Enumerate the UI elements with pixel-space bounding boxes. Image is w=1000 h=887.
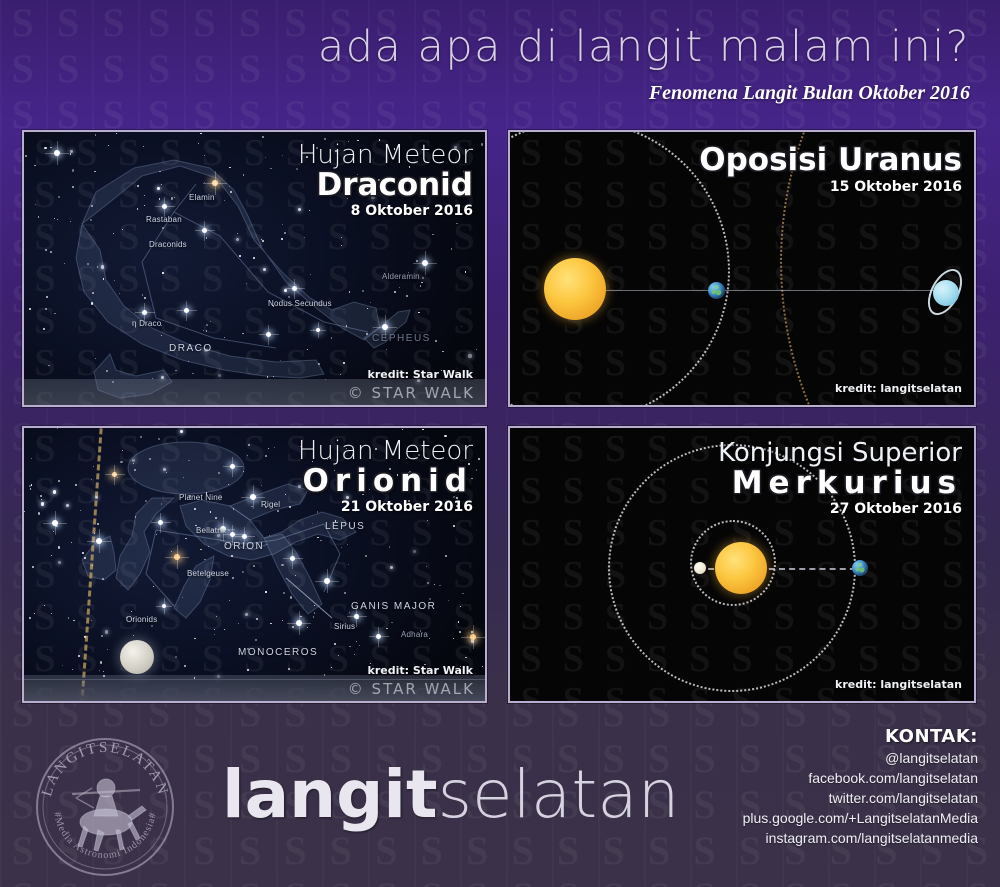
credit-merkurius: kredit: langitselatan [835, 678, 962, 691]
star [72, 669, 73, 670]
star [70, 153, 71, 154]
star [41, 502, 44, 505]
star [422, 277, 424, 279]
star [70, 150, 73, 153]
star [103, 278, 104, 279]
star [140, 436, 142, 438]
star [106, 370, 108, 372]
star [245, 613, 248, 616]
moon-icon [120, 640, 154, 674]
star [253, 257, 254, 258]
star [200, 549, 201, 550]
star [91, 302, 93, 304]
star [341, 547, 342, 548]
star [100, 661, 102, 663]
panel-title-uranus: Oposisi Uranus 15 Oktober 2016 [699, 144, 962, 195]
header: ada apa di langit malam ini? Fenomena La… [0, 0, 1000, 120]
orionid-name: Orionid [298, 465, 473, 498]
star-label: LEPUS [325, 521, 365, 532]
star [481, 143, 483, 145]
star [312, 523, 313, 524]
star [122, 450, 123, 451]
star [242, 571, 244, 573]
earth-body-merkurius-panel [852, 560, 868, 576]
star [359, 645, 360, 646]
star-label: CEPHEUS [372, 333, 431, 344]
star [341, 245, 342, 246]
star [406, 295, 408, 297]
star [229, 186, 230, 187]
star [134, 469, 136, 471]
star [239, 255, 240, 256]
panel-orionid[interactable]: SSSSSSSSSSSSSSSSSSSSSSSSSSSSSSSSSSSSSSSS… [22, 426, 487, 703]
uranus-kicker: Oposisi Uranus [699, 144, 962, 177]
star [237, 233, 238, 234]
star [105, 630, 108, 633]
star [135, 516, 136, 517]
earth-body-uranus-panel [708, 282, 725, 299]
star [91, 479, 92, 480]
brand-bold: langit [222, 756, 438, 833]
star-spike [164, 598, 165, 614]
star [390, 566, 393, 569]
star [247, 455, 248, 456]
star-spike [99, 529, 100, 553]
panel-draconid[interactable]: SSSSSSSSSSSSSSSSSSSSSSSSSSSSSSSSSSSSSSSS… [22, 130, 487, 407]
star-spike [378, 627, 379, 647]
star [175, 656, 177, 658]
star [38, 512, 40, 514]
star [465, 657, 466, 658]
star [422, 429, 423, 430]
star [184, 665, 186, 667]
starwalk-watermark-draconid: © STAR WALK [348, 384, 475, 402]
star-spike [327, 569, 328, 593]
star [149, 458, 151, 460]
star-spike [232, 457, 233, 477]
star [206, 330, 207, 331]
star [461, 326, 462, 327]
starwalk-watermark-orionid: © STAR WALK [348, 680, 475, 698]
panel-uranus[interactable]: SSSSSSSSSSSSSSSSSSSSSSSSSSSSSSSSSSSSSSSS… [508, 130, 976, 407]
orionid-date: 21 Oktober 2016 [298, 499, 473, 515]
star [25, 155, 26, 156]
star [29, 485, 31, 487]
star [228, 530, 229, 531]
star-spike [164, 197, 165, 217]
star [445, 555, 447, 557]
star [90, 219, 92, 221]
star-label: Alderamin [382, 272, 420, 281]
star [432, 234, 433, 235]
star [310, 274, 311, 275]
star [62, 665, 63, 666]
star-spike [204, 221, 205, 241]
star [289, 506, 291, 508]
star [229, 167, 230, 168]
uranus-date: 15 Oktober 2016 [699, 179, 962, 195]
star [270, 168, 271, 169]
credit-uranus: kredit: langitselatan [835, 382, 962, 395]
star-spike [57, 141, 58, 165]
star [307, 349, 308, 350]
star [162, 227, 164, 229]
star-spike [253, 485, 254, 509]
panel-title-orionid: Hujan Meteor Orionid 21 Oktober 2016 [298, 438, 473, 515]
star [465, 271, 466, 272]
star [161, 503, 162, 504]
opposition-sight-line [572, 290, 944, 291]
credit-draconid: kredit: Star Walk [368, 368, 473, 381]
star [292, 626, 294, 628]
star [120, 461, 122, 463]
star-label: Adhara [401, 630, 428, 639]
panel-merkurius[interactable]: SSSSSSSSSSSSSSSSSSSSSSSSSSSSSSSSSSSSSSSS… [508, 426, 976, 703]
star-label: Planet Nine [179, 493, 223, 502]
star [468, 354, 471, 357]
star [192, 373, 193, 374]
star [268, 448, 269, 449]
star-spike [425, 251, 426, 275]
star [70, 221, 71, 222]
uranus-body [933, 280, 959, 306]
star [40, 495, 41, 496]
star [331, 337, 332, 338]
star [58, 546, 60, 548]
star [133, 463, 134, 464]
contact-line[interactable]: twitter.com/langitselatan [743, 789, 978, 809]
star [30, 488, 31, 489]
star [206, 324, 208, 326]
star [462, 593, 463, 594]
star [267, 376, 268, 377]
star [145, 500, 147, 502]
star [133, 635, 134, 636]
star [144, 297, 145, 298]
star [97, 523, 99, 525]
star-spike [318, 322, 319, 338]
star-spike [215, 171, 216, 195]
star-label: Rigel [261, 500, 280, 509]
star-label: Orionids [126, 615, 157, 624]
star-label: Bellatrix [196, 526, 226, 535]
star-spike [299, 611, 300, 635]
star-spike [473, 625, 474, 649]
star [389, 546, 390, 547]
star-spike [268, 325, 269, 345]
star [137, 185, 139, 187]
star [34, 613, 35, 614]
star-spike [114, 465, 115, 485]
star [451, 248, 452, 249]
contact-line[interactable]: @langitselatan [743, 749, 978, 769]
star-spike [292, 549, 293, 569]
contact-line[interactable]: facebook.com/langitselatan [743, 769, 978, 789]
star [313, 616, 314, 617]
star [210, 511, 211, 512]
brand-wordmark: langitselatan [222, 762, 680, 828]
star [72, 169, 74, 171]
star [75, 484, 77, 486]
credit-orionid: kredit: Star Walk [368, 664, 473, 677]
star [365, 555, 367, 557]
star [439, 585, 440, 586]
star [476, 469, 477, 470]
star [206, 237, 207, 238]
star [281, 238, 283, 240]
sun-body-merkurius-panel [715, 542, 767, 594]
contact-block: KONTAK: @langitselatanfacebook.com/langi… [743, 726, 978, 848]
star [290, 596, 292, 598]
star [300, 616, 301, 617]
star-label: η Draco [132, 319, 161, 328]
star-spike [160, 513, 161, 533]
star [73, 620, 74, 621]
star-spike [55, 511, 56, 535]
star [263, 268, 266, 271]
star-label: ORION [224, 541, 264, 552]
star [97, 266, 98, 267]
draconid-date: 8 Oktober 2016 [298, 203, 473, 219]
star [317, 537, 318, 538]
star [84, 636, 86, 638]
star [32, 566, 33, 567]
star-label: Draconids [149, 240, 187, 249]
page-subtitle: Fenomena Langit Bulan Oktober 2016 [649, 82, 970, 105]
star-spike [186, 301, 187, 321]
brand-light: selatan [438, 756, 680, 833]
star [426, 566, 427, 567]
star [194, 638, 195, 639]
panel-title-merkurius: Konjungsi Superior Merkurius 27 Oktober … [718, 440, 962, 517]
star [101, 265, 104, 268]
star [142, 294, 143, 295]
star [386, 628, 387, 629]
contact-line[interactable]: plus.google.com/+LangitselatanMedia [743, 809, 978, 829]
star [35, 204, 36, 205]
star [218, 472, 220, 474]
star [314, 612, 315, 613]
star [314, 605, 315, 606]
star-spike [294, 279, 295, 299]
star [418, 312, 419, 313]
star-label: Betelgeuse [187, 569, 229, 578]
merkurius-name: Merkurius [718, 467, 962, 500]
star-label: GANIS MAJOR [351, 601, 436, 612]
star [421, 282, 422, 283]
star [283, 592, 285, 594]
star [224, 629, 225, 630]
star [44, 147, 46, 149]
footer: LANGITSELATAN #Media Astronomi Indonesia… [0, 710, 1000, 887]
star [159, 198, 160, 199]
contact-line[interactable]: instagram.com/langitselatanmedia [743, 829, 978, 849]
star [215, 517, 217, 519]
star [281, 564, 283, 566]
merkurius-kicker: Konjungsi Superior [718, 440, 962, 467]
star [143, 146, 144, 147]
contact-lines: @langitselatanfacebook.com/langitselatan… [743, 749, 978, 848]
star [204, 559, 205, 560]
star-label: MONOCEROS [238, 647, 318, 658]
star [92, 292, 94, 294]
star [50, 147, 51, 148]
star-label: DRACO [169, 343, 213, 354]
star [53, 490, 56, 493]
star [162, 272, 163, 273]
draconid-name: Draconid [298, 169, 473, 202]
star-label: Rastaban [146, 215, 182, 224]
star [51, 613, 52, 614]
merkurius-date: 27 Oktober 2016 [718, 501, 962, 517]
draconid-kicker: Hujan Meteor [298, 142, 473, 169]
star [253, 565, 255, 567]
page-title: ada apa di langit malam ini? [318, 22, 970, 72]
star [248, 444, 250, 446]
star-label: Sirius [334, 622, 355, 631]
star [48, 365, 49, 366]
star [144, 195, 145, 196]
star [448, 600, 449, 601]
contact-heading: KONTAK: [743, 726, 978, 747]
star [57, 219, 58, 220]
orionid-kicker: Hujan Meteor [298, 438, 473, 465]
star [243, 174, 244, 175]
poster-root: SSSSSSSSSSSSSSSSSSSSSSSSSSSSSSSSSSSSSSSS… [0, 0, 1000, 887]
uranus-body-group [924, 272, 966, 314]
star-spike [177, 545, 178, 569]
star [282, 224, 283, 225]
star [340, 374, 341, 375]
star [265, 591, 266, 592]
panel-title-draconid: Hujan Meteor Draconid 8 Oktober 2016 [298, 142, 473, 219]
star [200, 133, 201, 134]
star [458, 621, 459, 622]
star [102, 578, 104, 580]
star [348, 564, 349, 565]
star [101, 635, 103, 637]
star [320, 540, 321, 541]
sun-body-uranus-panel [544, 258, 606, 320]
star-label: Nodus Secundus [268, 299, 332, 308]
mercury-body [694, 562, 706, 574]
star-label: Elamin [189, 193, 215, 202]
star [459, 631, 461, 633]
star [171, 197, 173, 199]
langitselatan-seal-logo: LANGITSELATAN #Media Astronomi Indonesia… [32, 734, 178, 880]
